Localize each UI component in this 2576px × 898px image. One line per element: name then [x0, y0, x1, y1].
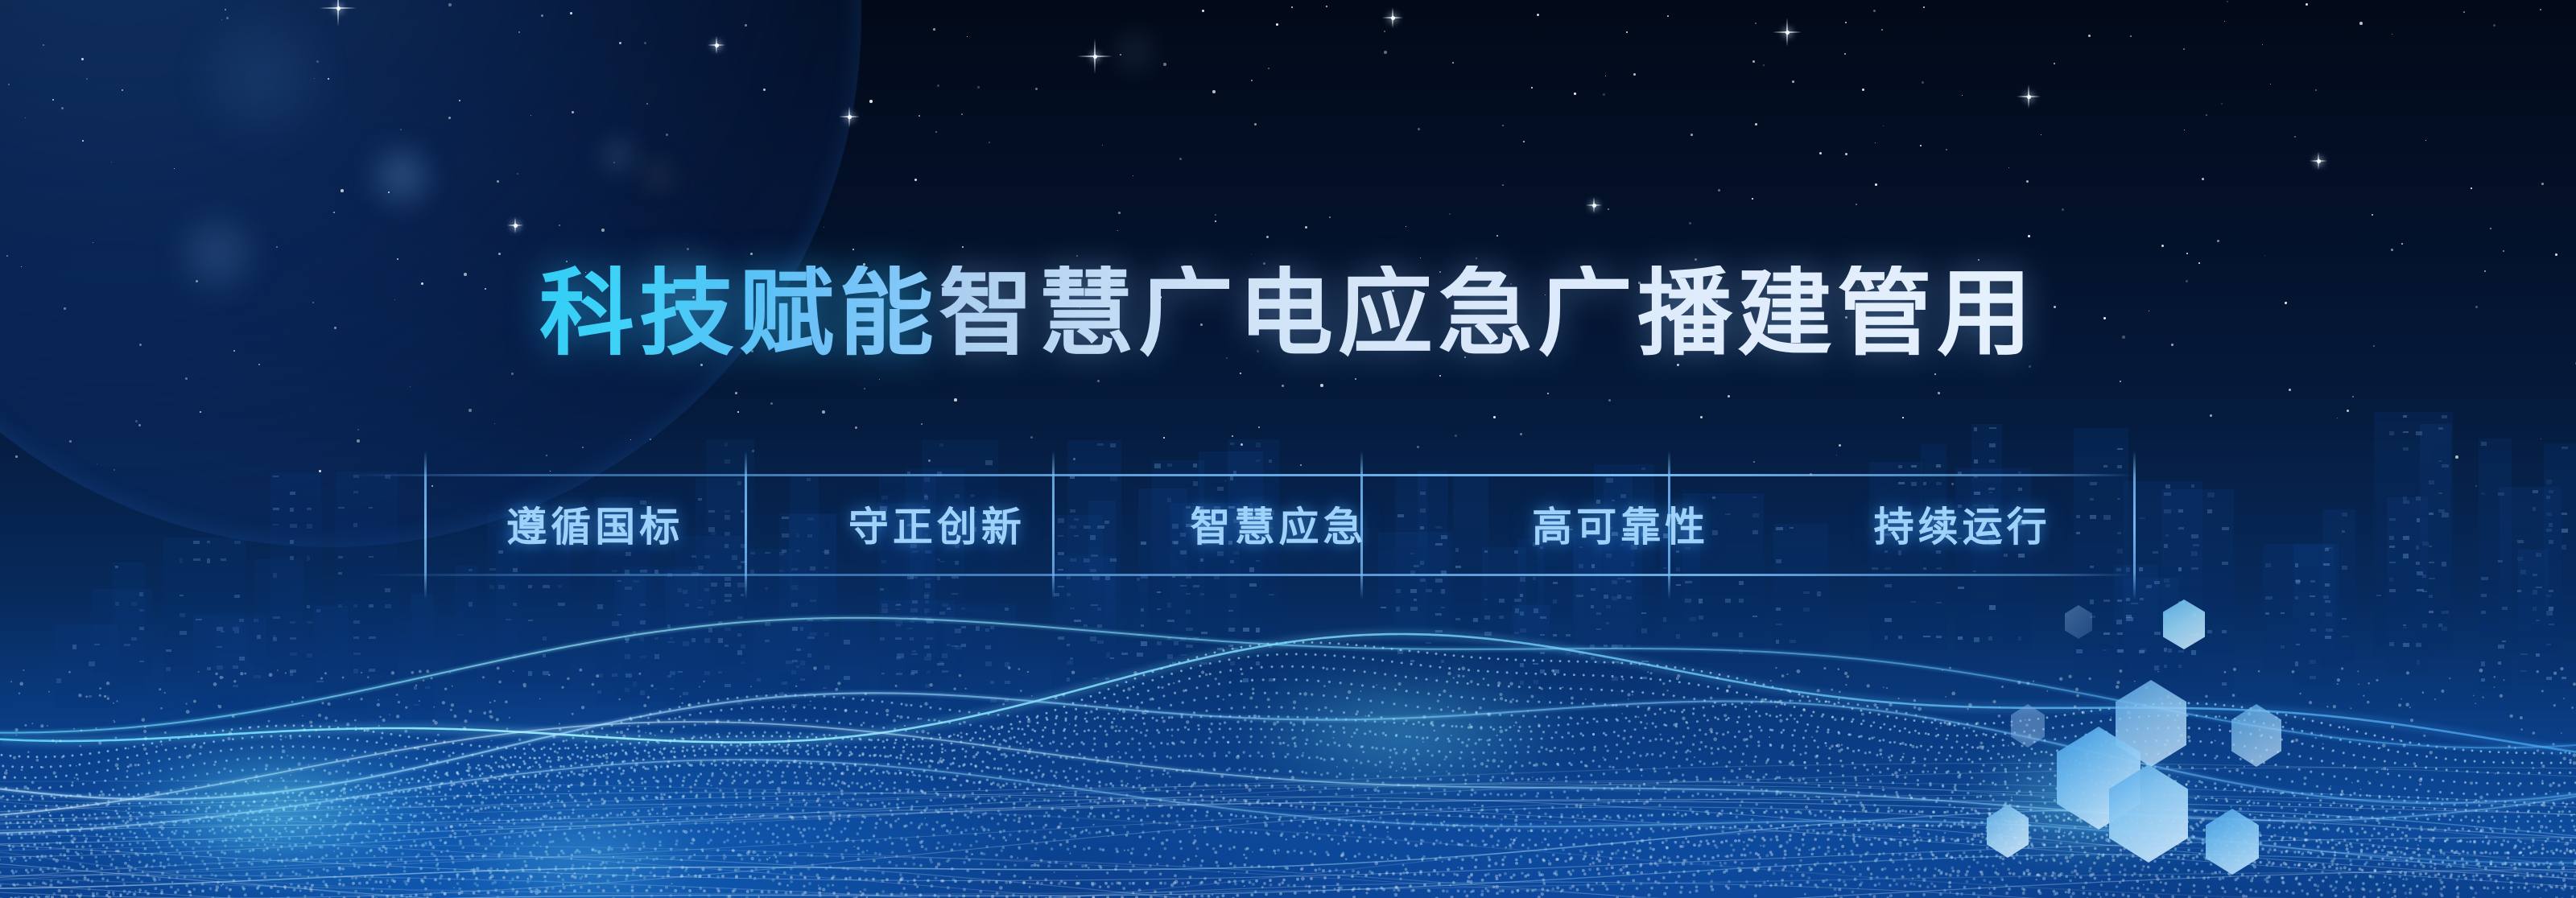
wave-glow: [89, 732, 459, 885]
star: [1449, 213, 1451, 215]
window-light: [895, 604, 901, 606]
window-light: [180, 595, 184, 596]
building: [2161, 489, 2234, 696]
window-light: [1520, 594, 1523, 597]
window-light: [925, 600, 929, 603]
window-light: [2562, 545, 2566, 550]
window-light: [2325, 636, 2331, 639]
window-light: [844, 640, 850, 645]
window-light: [369, 669, 375, 672]
window-light: [2222, 527, 2229, 530]
window-light: [1617, 595, 1621, 599]
window-light: [1690, 617, 1696, 621]
window-light: [2389, 518, 2396, 521]
star: [1755, 123, 1757, 126]
window-light: [1230, 661, 1235, 665]
building: [2420, 424, 2451, 653]
star: [1946, 149, 1947, 150]
window-light: [2139, 517, 2145, 519]
star: [2026, 180, 2029, 183]
window-light: [2549, 607, 2553, 611]
building: [2500, 487, 2562, 653]
window-light: [2481, 577, 2488, 580]
window-light: [2326, 547, 2332, 549]
star: [879, 379, 880, 380]
star: [2317, 159, 2321, 163]
window-light: [737, 701, 742, 705]
window-light: [469, 602, 473, 607]
window-light: [2126, 598, 2130, 601]
window-light: [2310, 628, 2316, 632]
window-light: [1410, 660, 1414, 662]
window-light: [741, 645, 745, 649]
window-light: [1090, 636, 1096, 641]
window-light: [718, 621, 722, 624]
window-light: [617, 580, 621, 582]
window-light: [1676, 584, 1681, 586]
star: [1574, 93, 1576, 95]
window-light: [1514, 599, 1521, 602]
window-light: [1591, 588, 1596, 591]
window-light: [796, 665, 799, 668]
window-light: [2416, 643, 2421, 647]
star: [1406, 226, 1406, 227]
tag-strip: 遵循国标 守正创新 智慧应急 高可靠性 持续运行: [424, 474, 2133, 574]
window-light: [947, 644, 951, 646]
star: [1493, 416, 1496, 418]
window-light: [823, 687, 827, 689]
window-light: [369, 604, 374, 608]
window-light: [369, 556, 374, 558]
window-light: [353, 636, 359, 639]
window-light: [786, 695, 791, 697]
window-light: [1641, 661, 1649, 662]
window-light: [1074, 620, 1081, 622]
star: [933, 28, 935, 31]
window-light: [1596, 612, 1601, 615]
star: [1300, 464, 1302, 466]
window-light: [640, 637, 644, 641]
star: [1163, 437, 1165, 439]
window-light: [2438, 624, 2442, 627]
star: [855, 426, 857, 429]
star: [1258, 426, 1260, 428]
window-light: [2103, 649, 2107, 651]
window-light: [1989, 427, 1996, 429]
sparkle-star: [2017, 84, 2041, 109]
window-light: [1576, 595, 1583, 597]
star: [869, 100, 873, 103]
building: [2387, 497, 2428, 674]
star: [1845, 22, 1847, 23]
window-light: [1499, 616, 1504, 619]
window-light: [683, 641, 689, 646]
window-light: [678, 588, 682, 592]
window-light: [1606, 605, 1611, 608]
window-light: [2416, 496, 2421, 500]
window-light: [2417, 660, 2420, 665]
star: [1728, 395, 1730, 398]
star: [1962, 95, 1963, 96]
star: [737, 411, 739, 413]
window-light: [1739, 581, 1744, 585]
window-light: [1911, 601, 1916, 603]
window-light: [1534, 680, 1538, 684]
window-light: [1520, 681, 1524, 685]
tag-divider: [2133, 451, 2136, 599]
star: [2471, 187, 2472, 189]
window-light: [2533, 590, 2537, 595]
window-light: [1243, 678, 1249, 682]
star: [1845, 153, 1847, 155]
star: [2262, 44, 2263, 45]
window-light: [166, 667, 171, 671]
window-light: [1676, 634, 1680, 639]
window-light: [1228, 610, 1233, 612]
star: [2490, 228, 2491, 229]
window-light: [2103, 599, 2110, 602]
hexagon-crystal: [2065, 605, 2092, 639]
window-light: [207, 558, 210, 563]
building: [754, 624, 812, 709]
window-light: [2164, 648, 2167, 652]
window-light: [1381, 607, 1386, 608]
tagstrip-bottom-rule: [364, 574, 2135, 576]
window-light: [2103, 465, 2107, 468]
window-light: [2265, 612, 2269, 615]
window-light: [1141, 624, 1144, 627]
star: [2392, 34, 2392, 35]
star: [2493, 24, 2495, 27]
window-light: [2403, 554, 2409, 558]
window-light: [796, 649, 801, 651]
window-light: [2139, 650, 2145, 653]
star: [1633, 73, 1636, 76]
window-light: [2117, 465, 2122, 468]
window-light: [2178, 527, 2184, 529]
window-light: [2438, 427, 2443, 430]
window-light: [1685, 599, 1691, 603]
star: [1305, 226, 1307, 229]
window-light: [1067, 644, 1070, 646]
window-light: [911, 653, 918, 655]
window-light: [633, 682, 637, 686]
window-light: [2442, 513, 2449, 517]
window-light: [1534, 608, 1538, 613]
window-light: [1553, 669, 1559, 673]
window-light: [1617, 645, 1623, 648]
window-light: [724, 645, 729, 647]
building: [665, 570, 710, 706]
window-light: [2536, 620, 2540, 621]
building: [314, 606, 349, 696]
building: [92, 589, 152, 675]
window-light: [910, 620, 914, 623]
window-light: [2416, 546, 2419, 550]
window-light: [1243, 628, 1249, 632]
building: [2114, 565, 2158, 669]
window-light: [942, 653, 947, 658]
window-light: [2403, 431, 2409, 433]
sparkle-star: [1382, 7, 1403, 28]
window-light: [2517, 557, 2523, 561]
window-light: [1005, 608, 1009, 611]
hexagon-crystal: [2231, 704, 2281, 767]
window-light: [2481, 611, 2486, 614]
window-light: [1739, 632, 1743, 637]
star: [1241, 443, 1243, 446]
window-light: [2417, 518, 2420, 522]
window-light: [1631, 661, 1637, 665]
star: [2455, 455, 2458, 459]
tag-item-1[interactable]: 守正创新: [766, 474, 1108, 574]
window-light: [543, 585, 550, 588]
window-light: [1612, 661, 1619, 663]
window-light: [2498, 661, 2501, 665]
tag-item-2[interactable]: 智慧应急: [1108, 474, 1450, 574]
window-light: [2103, 632, 2110, 635]
star: [1320, 384, 1323, 387]
window-light: [233, 627, 239, 631]
window-light: [2153, 551, 2158, 554]
star: [1922, 81, 1924, 84]
window-light: [207, 541, 210, 543]
window-light: [2442, 415, 2447, 418]
star: [937, 84, 939, 87]
window-light: [1606, 622, 1609, 624]
star: [2183, 48, 2185, 50]
window-light: [718, 671, 722, 673]
window-light: [1974, 637, 1979, 642]
window-light: [640, 656, 646, 658]
window-light: [1110, 657, 1114, 659]
window-light: [807, 693, 813, 696]
window-light: [2389, 431, 2394, 435]
window-light: [543, 636, 547, 641]
window-light: [115, 602, 119, 606]
window-light: [895, 620, 902, 625]
window-light: [2546, 480, 2552, 484]
window-light: [2076, 649, 2083, 653]
window-light: [1612, 596, 1617, 600]
hexagon-crystal: [2206, 809, 2259, 875]
star: [2315, 89, 2317, 91]
building: [615, 577, 645, 695]
star: [15, 455, 18, 458]
window-light: [1154, 463, 1161, 468]
window-light: [1230, 443, 1234, 445]
window-light: [1533, 663, 1538, 665]
star: [1251, 254, 1252, 255]
star: [852, 249, 854, 250]
window-light: [307, 605, 310, 608]
window-light: [1641, 468, 1645, 470]
window-light: [1604, 595, 1608, 599]
window-light: [2442, 627, 2447, 631]
window-light: [1167, 603, 1171, 608]
window-light: [2546, 513, 2552, 516]
window-light: [1520, 577, 1525, 582]
building: [622, 566, 697, 702]
window-light: [640, 603, 646, 606]
window-light: [1566, 652, 1571, 655]
window-light: [1617, 578, 1624, 579]
window-light: [1590, 645, 1595, 648]
tag-item-4[interactable]: 持续运行: [1791, 474, 2133, 574]
window-light: [1579, 652, 1584, 655]
star: [1883, 126, 1884, 126]
window-light: [1626, 596, 1632, 599]
star: [1531, 87, 1533, 89]
window-light: [1923, 636, 1930, 637]
star: [2184, 130, 2185, 130]
window-light: [597, 604, 603, 609]
window-light: [1553, 582, 1558, 584]
window-light: [528, 585, 532, 588]
star: [935, 131, 937, 133]
star: [2264, 255, 2265, 256]
window-light: [307, 653, 312, 657]
window-light: [2536, 553, 2541, 557]
window-light: [985, 661, 992, 666]
window-light: [239, 619, 244, 622]
window-light: [2536, 587, 2542, 588]
window-light: [2295, 596, 2298, 599]
star: [1819, 152, 1822, 154]
window-light: [711, 583, 717, 587]
building: [1104, 575, 1149, 668]
window-light: [2207, 630, 2212, 633]
window-light: [1141, 608, 1144, 612]
window-light: [1167, 463, 1172, 467]
window-light: [1520, 663, 1524, 667]
window-light: [1420, 579, 1426, 582]
window-light: [425, 686, 430, 689]
star: [2054, 63, 2055, 64]
window-light: [2549, 590, 2553, 592]
building: [2293, 544, 2334, 689]
window-light: [765, 640, 770, 642]
window-light: [2222, 630, 2227, 633]
window-light: [385, 588, 390, 592]
window-light: [2536, 653, 2540, 657]
window-light: [2389, 589, 2396, 592]
star: [1240, 373, 1241, 374]
window-light: [2191, 567, 2198, 570]
window-light: [1180, 585, 1187, 587]
star: [1547, 393, 1549, 394]
star: [2337, 418, 2338, 418]
star: [1452, 62, 1454, 64]
window-light: [612, 621, 619, 626]
star: [1439, 375, 1441, 377]
window-light: [1396, 607, 1400, 612]
building: [879, 600, 955, 684]
window-light: [233, 665, 238, 669]
window-light: [633, 580, 639, 583]
star: [961, 113, 963, 115]
window-light: [105, 695, 109, 697]
window-light: [1540, 634, 1545, 636]
window-light: [72, 645, 76, 649]
window-light: [2498, 645, 2504, 649]
window-light: [1612, 645, 1617, 649]
star: [2475, 485, 2477, 487]
star: [1934, 373, 1936, 375]
window-light: [254, 675, 261, 678]
window-light: [2520, 670, 2527, 672]
window-light: [683, 590, 687, 594]
window-light: [558, 585, 562, 587]
window-light: [737, 583, 745, 587]
window-light: [667, 675, 671, 678]
star: [1608, 399, 1611, 402]
window-light: [1596, 661, 1600, 664]
window-light: [924, 578, 931, 580]
window-light: [385, 604, 391, 608]
window-light: [741, 594, 744, 596]
window-light: [2481, 594, 2487, 597]
window-light: [1776, 608, 1781, 611]
star: [1355, 378, 1356, 380]
star: [1202, 10, 1204, 12]
window-light: [1070, 608, 1075, 609]
window-light: [2117, 632, 2123, 635]
star: [2425, 140, 2426, 141]
window-light: [612, 673, 617, 677]
window-light: [2429, 480, 2434, 484]
window-light: [2191, 484, 2194, 488]
window-light: [1540, 652, 1545, 654]
star: [2217, 240, 2219, 242]
window-light: [925, 684, 930, 688]
window-light: [2481, 492, 2485, 495]
window-light: [1484, 632, 1492, 636]
star: [1251, 80, 1253, 81]
window-light: [895, 637, 902, 640]
window-light: [1256, 661, 1260, 665]
window-light: [2403, 643, 2409, 647]
window-light: [2438, 509, 2445, 513]
window-light: [273, 635, 276, 640]
window-light: [925, 583, 931, 588]
tag-item-3[interactable]: 高可靠性: [1450, 474, 1792, 574]
window-light: [2416, 431, 2422, 435]
star: [2041, 134, 2041, 135]
window-light: [2429, 562, 2434, 563]
window-light: [316, 681, 324, 682]
window-light: [1663, 617, 1666, 622]
window-light: [683, 692, 688, 695]
window-light: [1936, 602, 1942, 603]
window-light: [1249, 583, 1257, 587]
building: [944, 604, 1016, 714]
window-light: [1137, 634, 1143, 636]
star: [2186, 253, 2188, 254]
window-light: [2131, 603, 2138, 604]
window-light: [2168, 649, 2172, 653]
window-light: [907, 628, 913, 629]
window-light: [2140, 598, 2144, 600]
window-light: [2164, 509, 2171, 513]
window-light: [1989, 459, 1995, 463]
window-light: [94, 644, 100, 645]
star: [2221, 103, 2223, 105]
window-light: [1515, 608, 1519, 613]
tag-item-0[interactable]: 遵循国标: [424, 474, 766, 574]
star: [770, 402, 773, 405]
window-light: [1612, 677, 1618, 681]
